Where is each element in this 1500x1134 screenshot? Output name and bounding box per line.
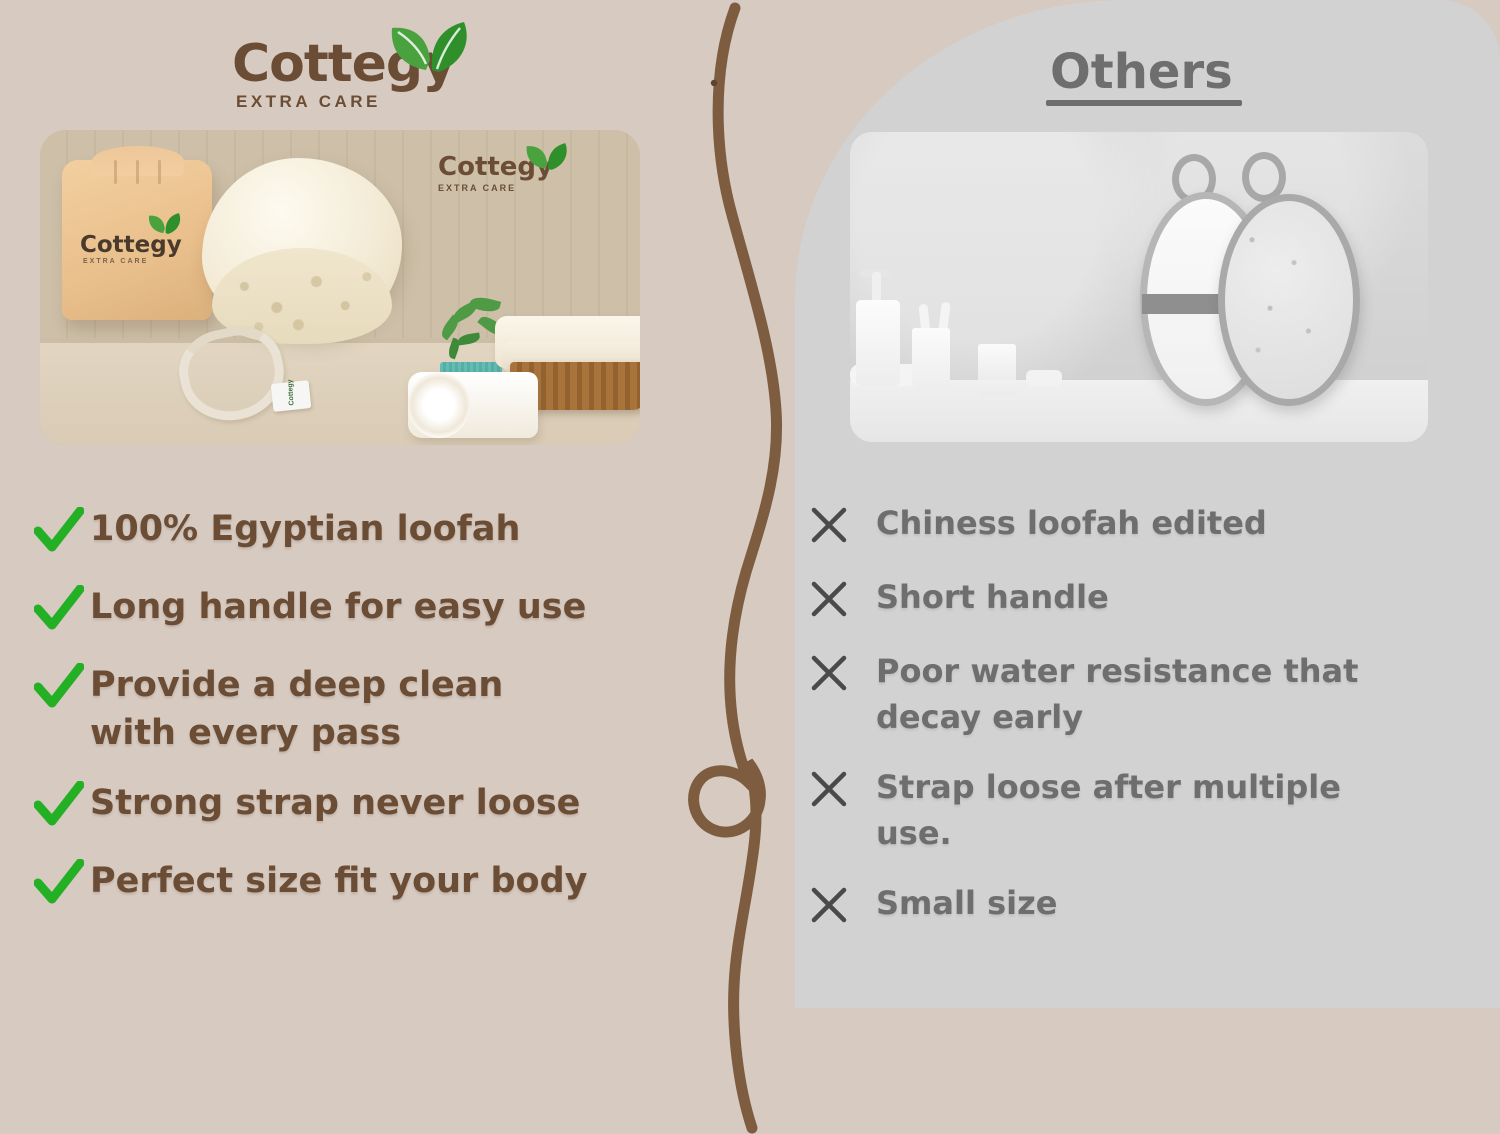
con-label: Chiness loofah edited [876,500,1267,546]
list-item: Strong strap never loose [34,779,734,831]
soap-dispenser [856,300,900,386]
x-icon [808,652,876,698]
check-icon [34,663,90,713]
product-photo: Cottegy EXTRA CARE Cottegy Cottegy EXTRA… [40,130,640,445]
drawstring-pouch: Cottegy EXTRA CARE [62,160,212,320]
check-icon [34,585,90,635]
pouch-brand-name: Cottegy [80,232,182,258]
list-item: Provide a deep clean with every pass [34,661,734,757]
brand-logo: Cottegy EXTRA CARE [232,38,532,116]
list-item: 100% Egyptian loofah [34,505,734,557]
pouch-pleat [136,160,139,184]
others-title-underline [1046,100,1242,106]
others-photo-counter [850,380,1428,442]
bathroom-cup [978,344,1016,396]
list-item: Short handle [808,574,1468,624]
list-item: Small size [808,880,1468,930]
others-photo [850,132,1428,442]
x-icon [808,884,876,930]
con-label: Short handle [876,574,1109,620]
con-label: Poor water resistance that decay early [876,648,1358,740]
list-item: Long handle for easy use [34,583,734,635]
toothbrush-holder [912,328,950,386]
pro-label: Strong strap never loose [90,779,580,827]
con-label: Strap loose after multiple use. [876,764,1341,856]
x-icon [808,768,876,814]
cons-list: Chiness loofah edited Short handle Poor … [808,500,1468,954]
leaf-icon [380,20,476,76]
x-icon [808,578,876,624]
list-item: Poor water resistance that decay early [808,648,1468,740]
rolled-towel-end [408,372,470,438]
check-icon [34,859,90,909]
x-icon [808,504,876,550]
photo-wall-logo: Cottegy EXTRA CARE [438,152,608,193]
check-icon [34,781,90,831]
photo-wall-logo-tagline: EXTRA CARE [438,183,608,193]
pouch-pleat [158,160,161,184]
others-title: Others [1050,44,1233,100]
pro-label: Perfect size fit your body [90,857,587,905]
pro-label: 100% Egyptian loofah [90,505,520,553]
leaf-icon [520,142,572,172]
check-icon [34,507,90,557]
list-item: Chiness loofah edited [808,500,1468,550]
infographic-canvas: Cottegy EXTRA CARE Others Cottegy EXTRA … [0,0,1500,1134]
con-label: Small size [876,880,1057,926]
pros-list: 100% Egyptian loofah Long handle for eas… [34,505,734,935]
pro-label: Long handle for easy use [90,583,586,631]
soap-bar [1026,370,1062,386]
pouch-pleat [114,160,117,184]
list-item: Strap loose after multiple use. [808,764,1468,856]
loofah-pad-texture [1222,198,1342,388]
pouch-brand-tagline: EXTRA CARE [83,258,148,265]
list-item: Perfect size fit your body [34,857,734,909]
pro-label: Provide a deep clean with every pass [90,661,503,757]
brand-tagline: EXTRA CARE [232,92,532,112]
